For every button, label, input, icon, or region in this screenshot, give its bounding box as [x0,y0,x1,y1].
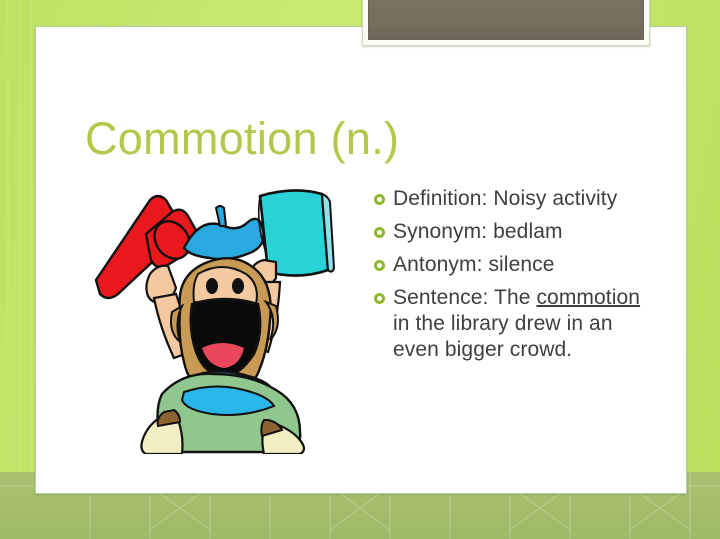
left-eye [206,278,218,294]
sentence-keyword: commotion [536,286,640,309]
bullet-list: Definition: Noisy activity Synonym: bedl… [374,186,659,370]
right-eye [232,278,244,294]
bullet-ring-icon [374,293,385,304]
list-item: Sentence: The commotion in the library d… [374,285,659,363]
sentence-prefix: Sentence: The [393,286,536,309]
list-item: Synonym: bedlam [374,219,659,245]
left-edge-pattern [0,0,40,539]
bullet-text-sentence: Sentence: The commotion in the library d… [393,285,659,363]
slide-title: Commotion (n.) [85,114,399,164]
illustration-screaming-child [88,182,344,454]
blue-cap [184,206,264,259]
header-plaque-frame [362,0,650,46]
bullet-text-synonym: Synonym: bedlam [393,219,563,245]
bullet-text-antonym: Antonym: silence [393,252,555,278]
bullet-text-definition: Definition: Noisy activity [393,186,617,212]
bullet-ring-icon [374,227,385,238]
header-plaque [368,0,644,40]
presentation-slide: Commotion (n.) [0,0,720,539]
list-item: Antonym: silence [374,252,659,278]
list-item: Definition: Noisy activity [374,186,659,212]
bullet-ring-icon [374,194,385,205]
bullet-ring-icon [374,260,385,271]
sentence-suffix: in the library drew in an even bigger cr… [393,312,613,361]
